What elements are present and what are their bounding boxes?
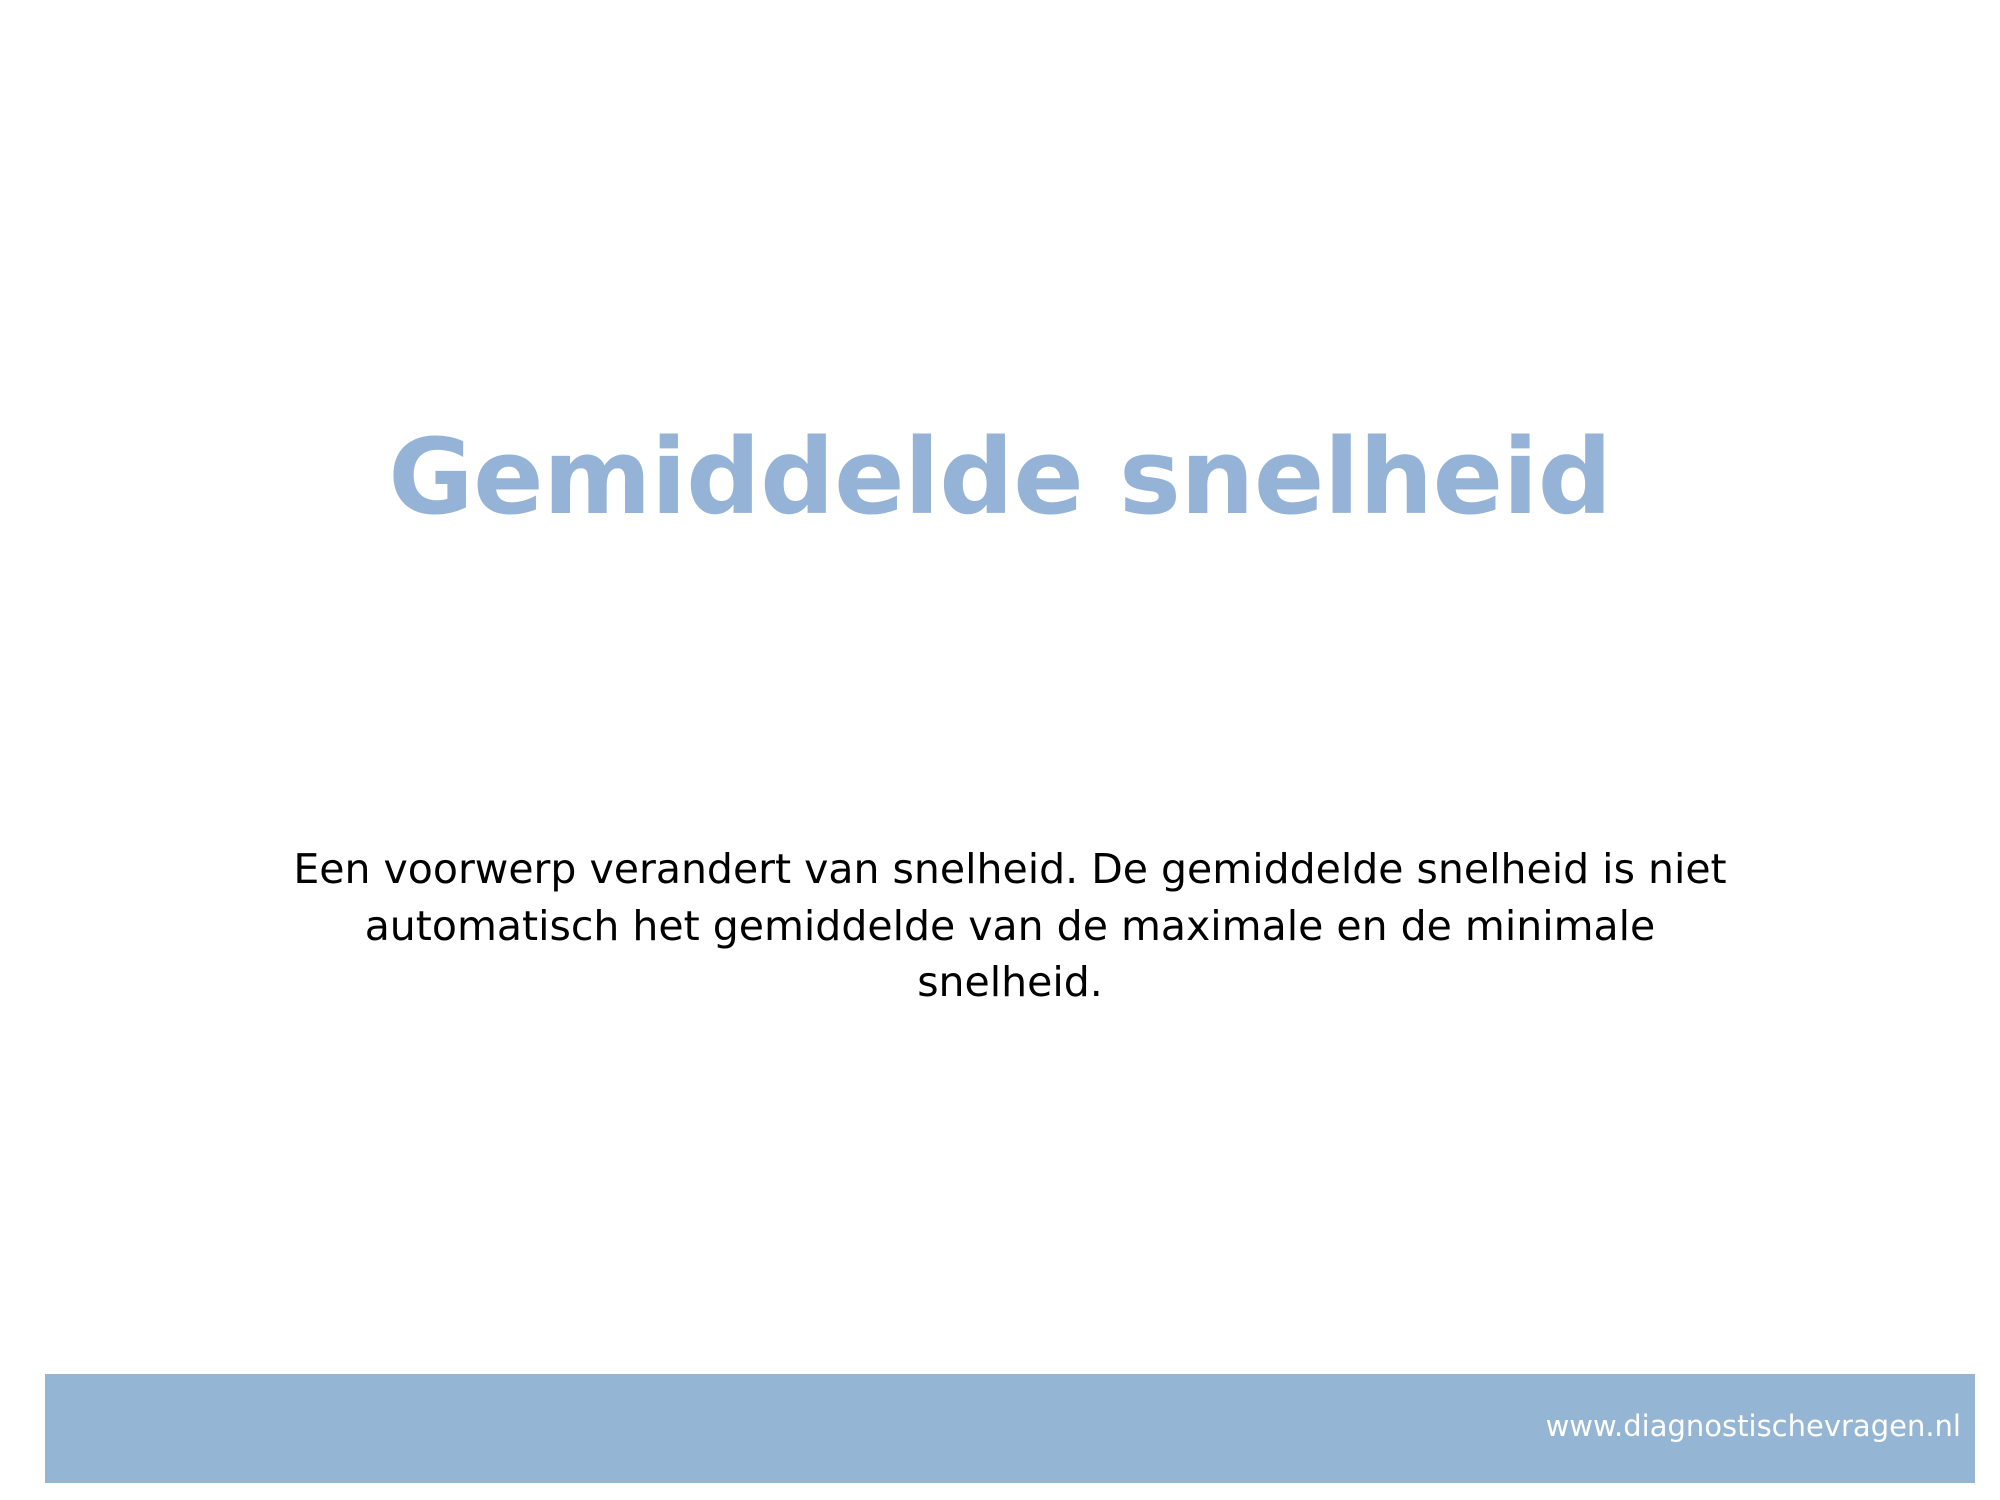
page-title: Gemiddelde snelheid	[180, 418, 1820, 537]
slide-canvas: Gemiddelde snelheid Een voorwerp verande…	[0, 0, 2000, 1500]
slide-body-text: Een voorwerp verandert van snelheid. De …	[280, 841, 1740, 1011]
footer-website-url: www.diagnostischevragen.nl	[1546, 1412, 1961, 1441]
footer-bar: www.diagnostischevragen.nl	[45, 1374, 1975, 1483]
